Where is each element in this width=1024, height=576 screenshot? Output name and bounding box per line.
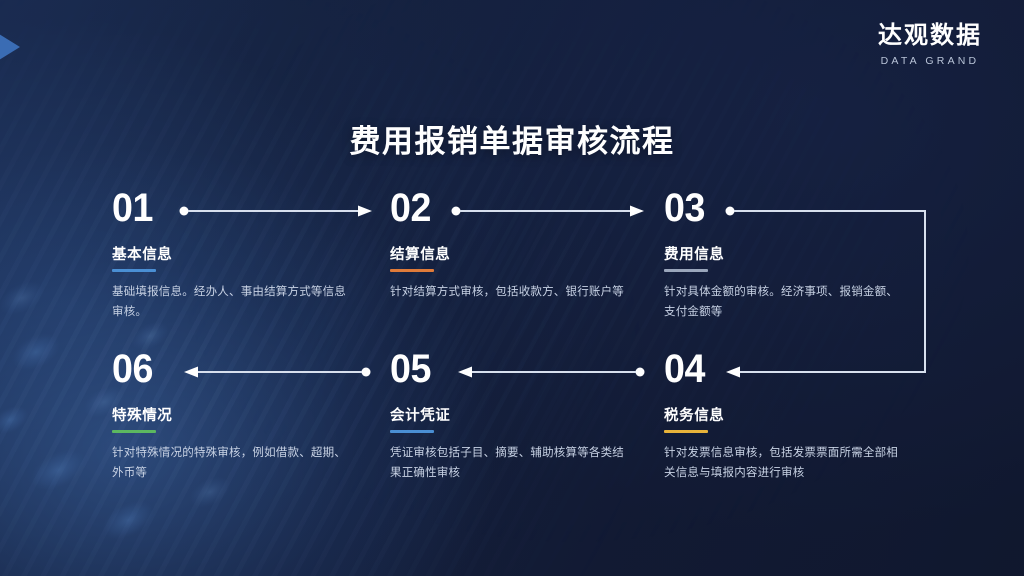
step-heading: 会计凭证 (390, 404, 642, 425)
step-accent-rule (112, 430, 156, 433)
steps-grid: 01 基本信息 基础填报信息。经办人、事由结算方式等信息审核。 02 结算信息 … (0, 0, 1024, 576)
step-description: 针对具体金额的审核。经济事项、报销金额、支付金额等 (664, 282, 904, 322)
step-05[interactable]: 05 会计凭证 凭证审核包括子目、摘要、辅助核算等各类结果正确性审核 (390, 349, 642, 483)
step-heading: 特殊情况 (112, 404, 364, 425)
step-description: 针对结算方式审核，包括收款方、银行账户等 (390, 282, 630, 302)
step-number: 02 (390, 188, 627, 228)
step-accent-rule (664, 269, 708, 272)
step-heading: 基本信息 (112, 243, 364, 264)
step-accent-rule (664, 430, 708, 433)
step-description: 针对特殊情况的特殊审核，例如借款、超期、外币等 (112, 443, 352, 483)
step-heading: 结算信息 (390, 243, 642, 264)
step-number: 05 (390, 349, 627, 389)
step-01[interactable]: 01 基本信息 基础填报信息。经办人、事由结算方式等信息审核。 (112, 188, 364, 322)
step-heading: 费用信息 (664, 243, 916, 264)
step-number: 06 (112, 349, 349, 389)
step-accent-rule (390, 269, 434, 272)
step-accent-rule (390, 430, 434, 433)
step-number: 04 (664, 349, 901, 389)
step-accent-rule (112, 269, 156, 272)
step-heading: 税务信息 (664, 404, 916, 425)
step-03[interactable]: 03 费用信息 针对具体金额的审核。经济事项、报销金额、支付金额等 (664, 188, 916, 322)
slide-root: 达观数据 DATA GRAND 费用报销单据审核流程 (0, 0, 1024, 576)
step-number: 01 (112, 188, 349, 228)
step-description: 基础填报信息。经办人、事由结算方式等信息审核。 (112, 282, 352, 322)
step-02[interactable]: 02 结算信息 针对结算方式审核，包括收款方、银行账户等 (390, 188, 642, 302)
step-06[interactable]: 06 特殊情况 针对特殊情况的特殊审核，例如借款、超期、外币等 (112, 349, 364, 483)
step-description: 凭证审核包括子目、摘要、辅助核算等各类结果正确性审核 (390, 443, 630, 483)
step-number: 03 (664, 188, 901, 228)
step-04[interactable]: 04 税务信息 针对发票信息审核，包括发票票面所需全部相关信息与填报内容进行审核 (664, 349, 916, 483)
step-description: 针对发票信息审核，包括发票票面所需全部相关信息与填报内容进行审核 (664, 443, 904, 483)
